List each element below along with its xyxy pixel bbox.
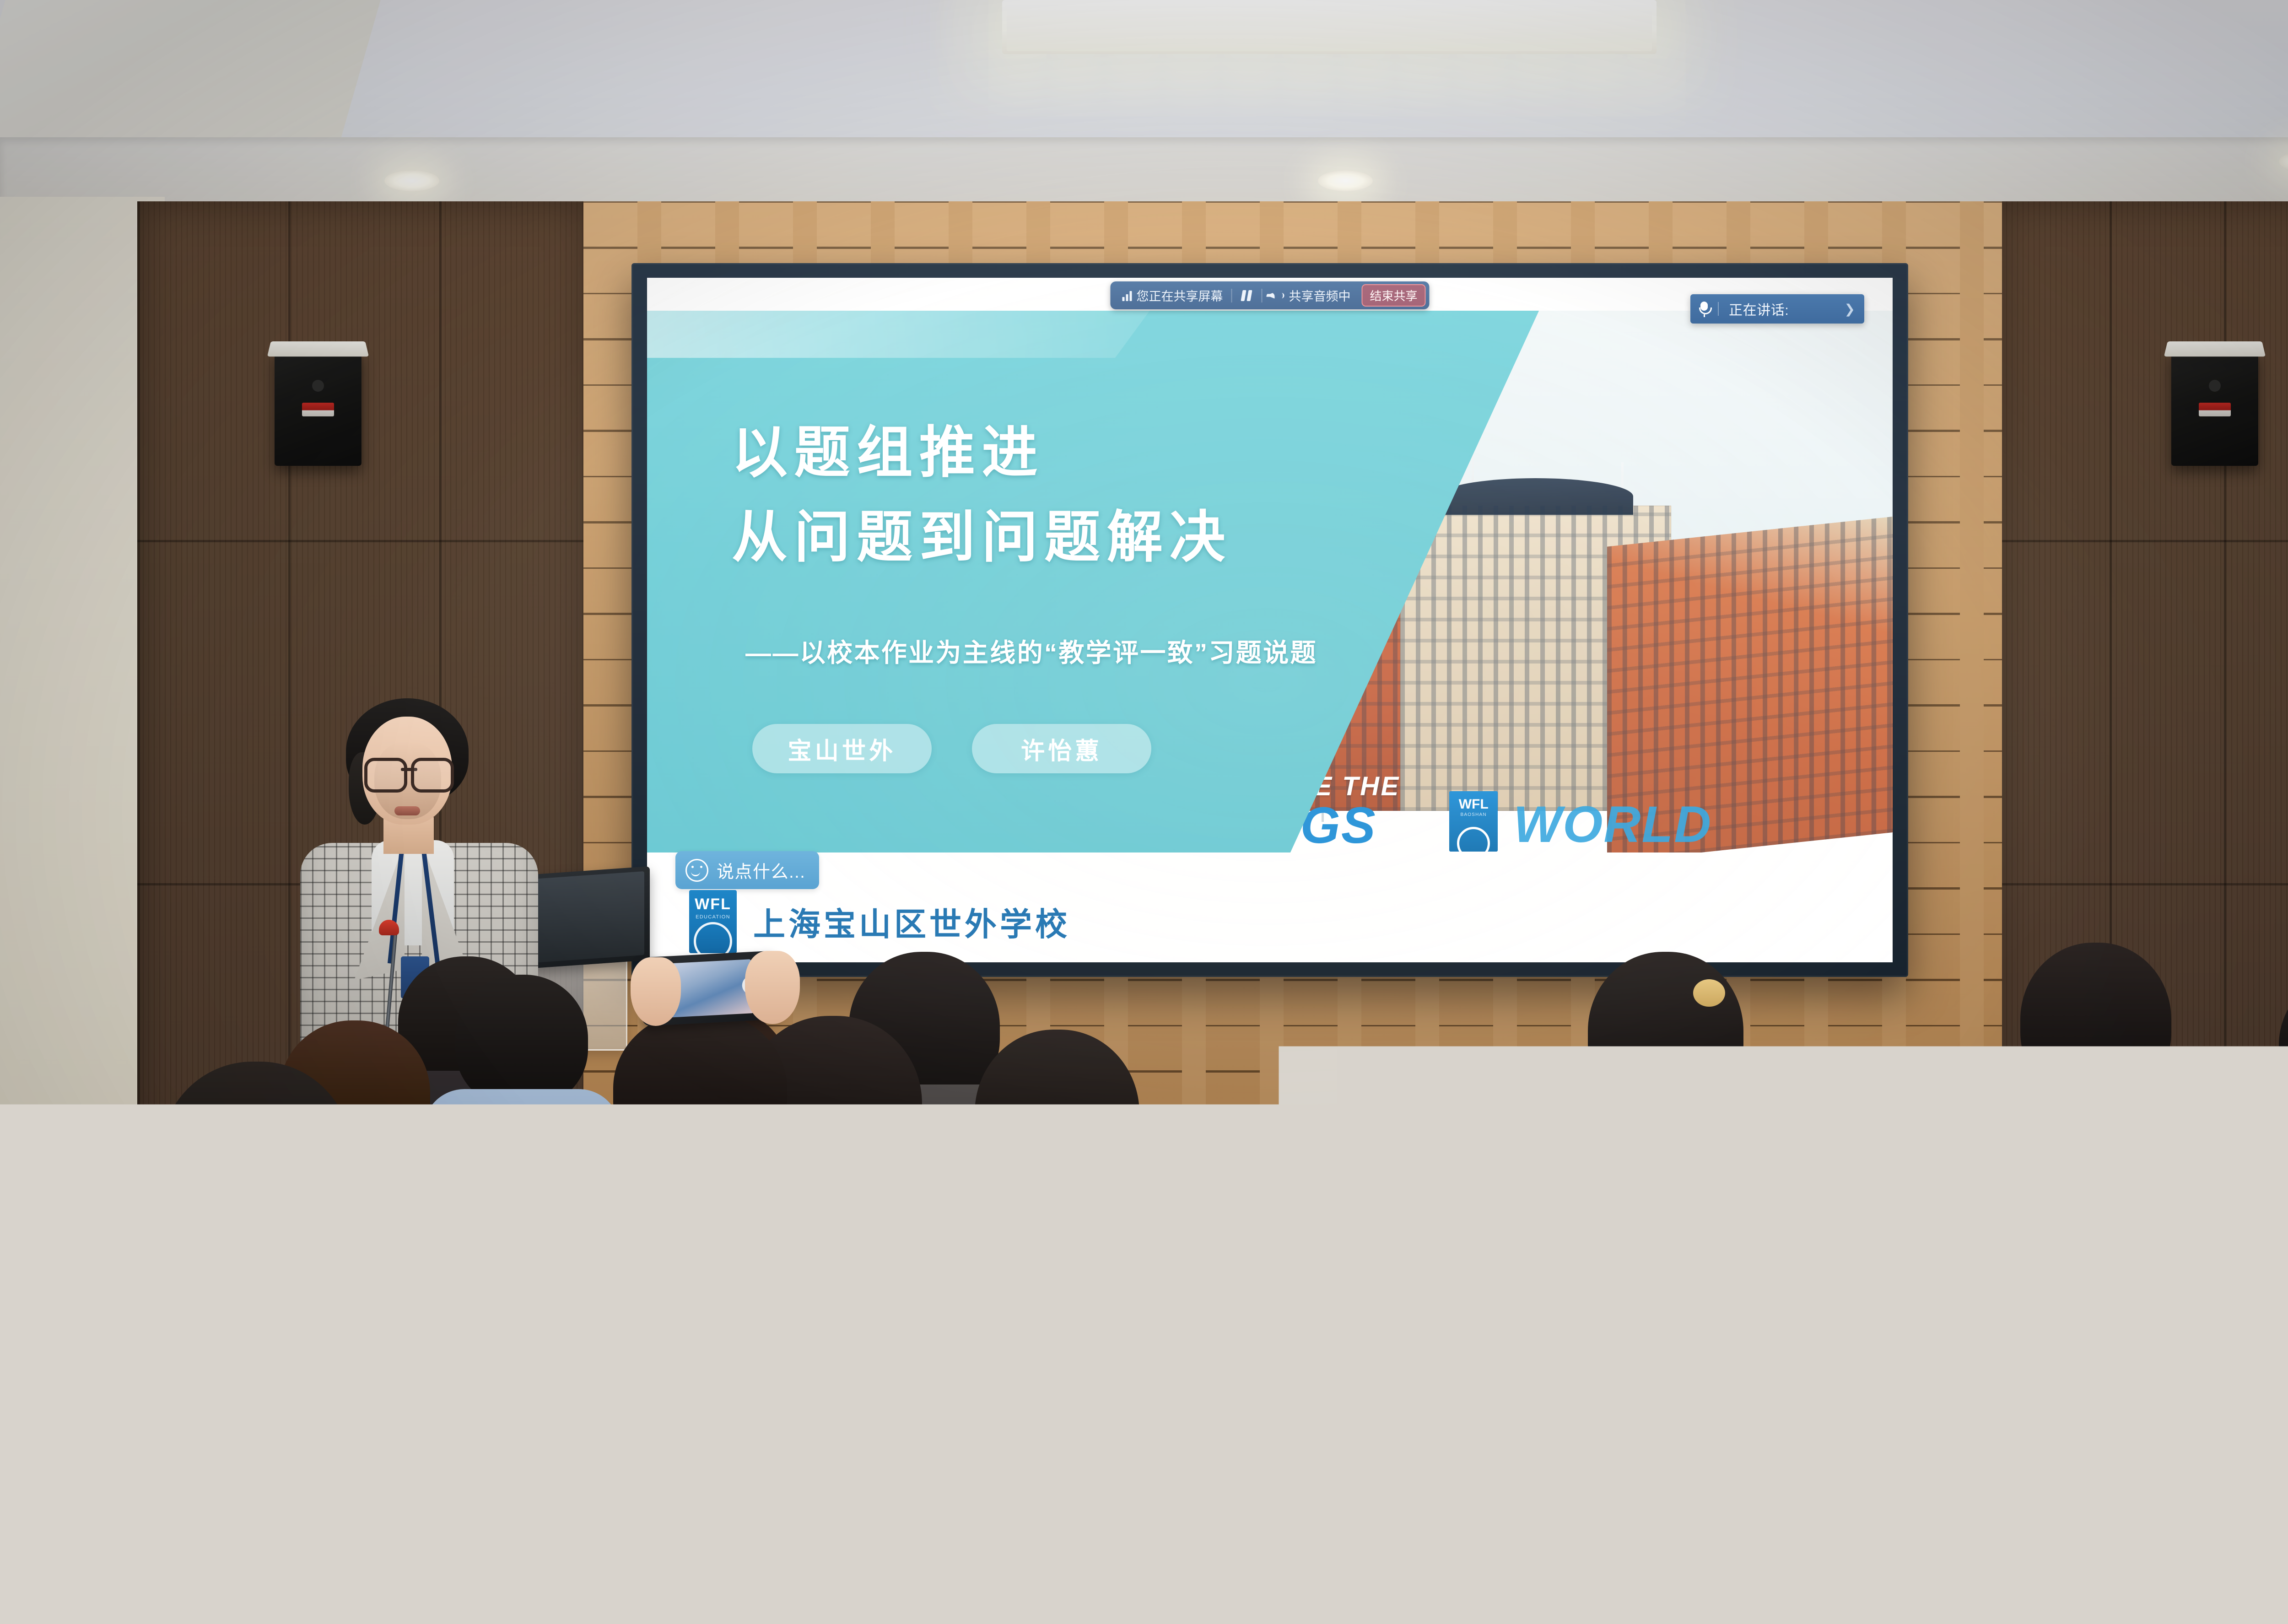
banner-line-3: WORLD <box>1513 795 1712 854</box>
wall-speaker-left <box>275 351 362 466</box>
hand-left <box>631 957 681 1026</box>
signal-bars-icon <box>1122 290 1132 301</box>
school-name: 上海宝山区世外学校 <box>753 899 1070 945</box>
projection-screen: ★ ★ ★ ★ ★ YOU ARE THE WINGS WFL <box>631 263 1908 977</box>
speaker-icon <box>1270 290 1284 301</box>
attendee-torso <box>1668 1359 2103 1624</box>
end-share-button[interactable]: 结束共享 <box>1361 284 1425 307</box>
attendee-torso <box>2251 1181 2288 1428</box>
cup-lid <box>632 1464 722 1474</box>
slide-tag-row: 宝山世外 许怡蕙 <box>752 724 1151 773</box>
attendee-laptop[interactable] <box>334 1358 581 1553</box>
attendee-pink-fur-right <box>1693 1181 2078 1624</box>
attendee-head <box>975 1030 1139 1203</box>
chevron-right-icon[interactable]: ❯ <box>1845 302 1855 317</box>
speaker-brand-badge <box>2199 403 2231 416</box>
speaking-indicator[interactable]: 正在讲话: ❯ <box>1690 294 1864 324</box>
banner-shield: WFL BAOSHAN <box>1449 791 1498 852</box>
cup-lid <box>912 1219 974 1229</box>
wfl-logo-text: WFL <box>695 896 731 913</box>
attendee-head <box>1787 1181 1984 1382</box>
microphone-icon <box>1690 302 1718 316</box>
share-status: 您正在共享屏幕 <box>1114 285 1231 306</box>
classroom-scene: ★ ★ ★ ★ ★ YOU ARE THE WINGS WFL <box>0 0 2288 1624</box>
attendee-head <box>455 975 588 1107</box>
cup-logo <box>646 1535 713 1609</box>
attendee-head <box>2020 943 2171 1103</box>
slide-tag-school: 宝山世外 <box>752 724 932 773</box>
smiley-icon <box>685 859 708 882</box>
presenter-glasses <box>364 758 454 788</box>
pause-share-button[interactable] <box>1232 287 1261 304</box>
banner-shield-text: WFL <box>1449 791 1498 812</box>
slide-title: 以题组推进 从问题到问题解决 <box>732 410 1232 580</box>
slide-title-line-2: 从问题到问题解决 <box>732 495 1232 580</box>
share-audio-label: 共享音频中 <box>1289 286 1350 304</box>
laptop-primary-button[interactable] <box>523 1387 541 1398</box>
presentation-slide: ★ ★ ★ ★ ★ YOU ARE THE WINGS WFL <box>647 278 1893 962</box>
printed-handout <box>1412 1078 1572 1241</box>
attendee-torso <box>554 1153 847 1382</box>
hand-right <box>745 951 800 1024</box>
presenter-mouth <box>394 806 420 815</box>
pause-share-icon <box>1240 289 1253 302</box>
wfl-logo: WFL EDUCATION <box>689 890 737 953</box>
attendee-head <box>1588 952 1743 1117</box>
slide-highlight-strip <box>647 310 1150 358</box>
banner-shield-sub: BAOSHAN <box>1449 812 1498 817</box>
share-audio-status[interactable]: 共享音频中 <box>1262 285 1359 306</box>
share-status-label: 您正在共享屏幕 <box>1136 286 1223 304</box>
projected-slide-surface: ★ ★ ★ ★ ★ YOU ARE THE WINGS WFL <box>647 278 1893 962</box>
speaker-brand-badge <box>302 403 334 416</box>
attendee-laptop-screen <box>340 1363 576 1547</box>
slide-tag-presenter: 许怡蕙 <box>972 724 1151 773</box>
wall-speaker-right <box>2171 351 2258 466</box>
coffee-cup-white <box>915 1226 970 1313</box>
attendee-striped-right <box>2270 1052 2288 1428</box>
screen-share-toolbar[interactable]: 您正在共享屏幕 共享音频中 结束共享 <box>1110 281 1429 309</box>
ceiling-downlight-1 <box>384 170 439 191</box>
attendee-head <box>613 1011 787 1171</box>
wfl-logo-ball-icon <box>694 922 732 953</box>
ceiling-downlight-2 <box>1318 170 1373 191</box>
ceiling-linear-light <box>1002 0 1657 54</box>
say-something-button[interactable]: 说点什么... <box>675 851 819 889</box>
slide-subtitle: ——以校本作业为主线的“教学评一致”习题说题 <box>745 632 1317 669</box>
slide-footer-brand: WFL EDUCATION 上海宝山区世外学校 <box>689 890 1070 953</box>
slide-title-line-1: 以题组推进 <box>732 410 1232 495</box>
attendee-hair-clip <box>1693 979 1725 1007</box>
wfl-logo-subtext: EDUCATION <box>696 914 730 920</box>
say-something-label: 说点什么... <box>717 858 805 883</box>
attendee-with-phone <box>572 1011 828 1387</box>
speaking-label: 正在讲话: <box>1719 299 1789 319</box>
coffee-cup-red <box>636 1471 718 1622</box>
